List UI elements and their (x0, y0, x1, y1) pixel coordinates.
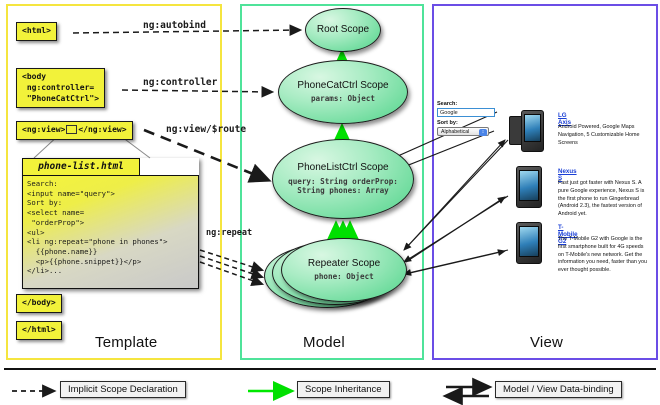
ngview-slot-icon (66, 125, 77, 134)
search-input[interactable]: Google (437, 108, 495, 117)
scope-phonecatctrl: PhoneCatCtrl Scope params: Object (278, 60, 408, 124)
phone-snippet: Android Powered, Google Maps Navigation,… (558, 124, 650, 147)
legend-item-scope-inheritance: Scope Inheritance (297, 381, 390, 398)
view-column-label: View (530, 334, 563, 351)
legend-divider (4, 368, 656, 370)
code-card-title: phone-list.html (22, 158, 140, 176)
scope-phonecatctrl-name: PhoneCatCtrl Scope (297, 80, 388, 91)
connector-label-autobind: ng:autobind (143, 20, 206, 31)
scope-repeater: Repeater Scope phone: Object (281, 238, 407, 302)
sort-by-select[interactable]: Alphabetical ↕ (437, 127, 489, 136)
code-card-source: Search: <input name="query"> Sort by: <s… (22, 175, 199, 289)
sort-by-label: Sort by: (437, 120, 458, 126)
connector-label-repeat: ng:repeat (206, 228, 252, 238)
model-column-label: Model (303, 334, 345, 351)
scope-phonelistctrl-name: PhoneListCtrl Scope (297, 162, 388, 173)
ngview-tag: <ng:view></ng:view> (16, 121, 133, 140)
diagram-canvas: Template Model View (0, 0, 660, 405)
phone-snippet: Fast just got faster with Nexus S. A pur… (558, 180, 650, 219)
phone-thumbnail-icon (509, 110, 543, 150)
ngview-open-label: <ng:view> (22, 125, 65, 134)
ngview-close-label: </ng:view> (78, 125, 126, 134)
body-open-tag: <body ng:controller= "PhoneCatCtrl"> (16, 68, 105, 108)
legend-item-data-binding: Model / View Data-binding (495, 381, 622, 398)
search-label: Search: (437, 101, 457, 107)
scope-repeater-props: phone: Object (314, 272, 373, 281)
sort-by-selected-value: Alphabetical (441, 129, 469, 135)
html-open-tag: <html> (16, 22, 57, 41)
phone-thumbnail-icon (512, 166, 546, 206)
scope-phonelistctrl-props: query: String orderProp: String phones: … (273, 177, 413, 196)
phone-snippet: The T-Mobile G2 with Google is the first… (558, 236, 650, 275)
scope-root-name: Root Scope (317, 24, 369, 35)
legend-item-implicit-scope-declaration: Implicit Scope Declaration (60, 381, 186, 398)
phone-thumbnail-icon (512, 222, 546, 262)
scope-phonelistctrl: PhoneListCtrl Scope query: String orderP… (272, 139, 414, 219)
template-code-card: phone-list.html Search: <input name="que… (22, 158, 199, 289)
body-close-tag: </body> (16, 294, 62, 313)
chevron-updown-icon: ↕ (479, 129, 487, 136)
connector-label-route: ng:view/$route (166, 124, 246, 135)
scope-root: Root Scope (305, 8, 381, 52)
html-close-tag: </html> (16, 321, 62, 340)
scope-phonecatctrl-props: params: Object (311, 94, 375, 103)
template-column-label: Template (95, 334, 157, 351)
scope-repeater-name: Repeater Scope (308, 258, 380, 269)
connector-label-controller: ng:controller (143, 77, 217, 88)
